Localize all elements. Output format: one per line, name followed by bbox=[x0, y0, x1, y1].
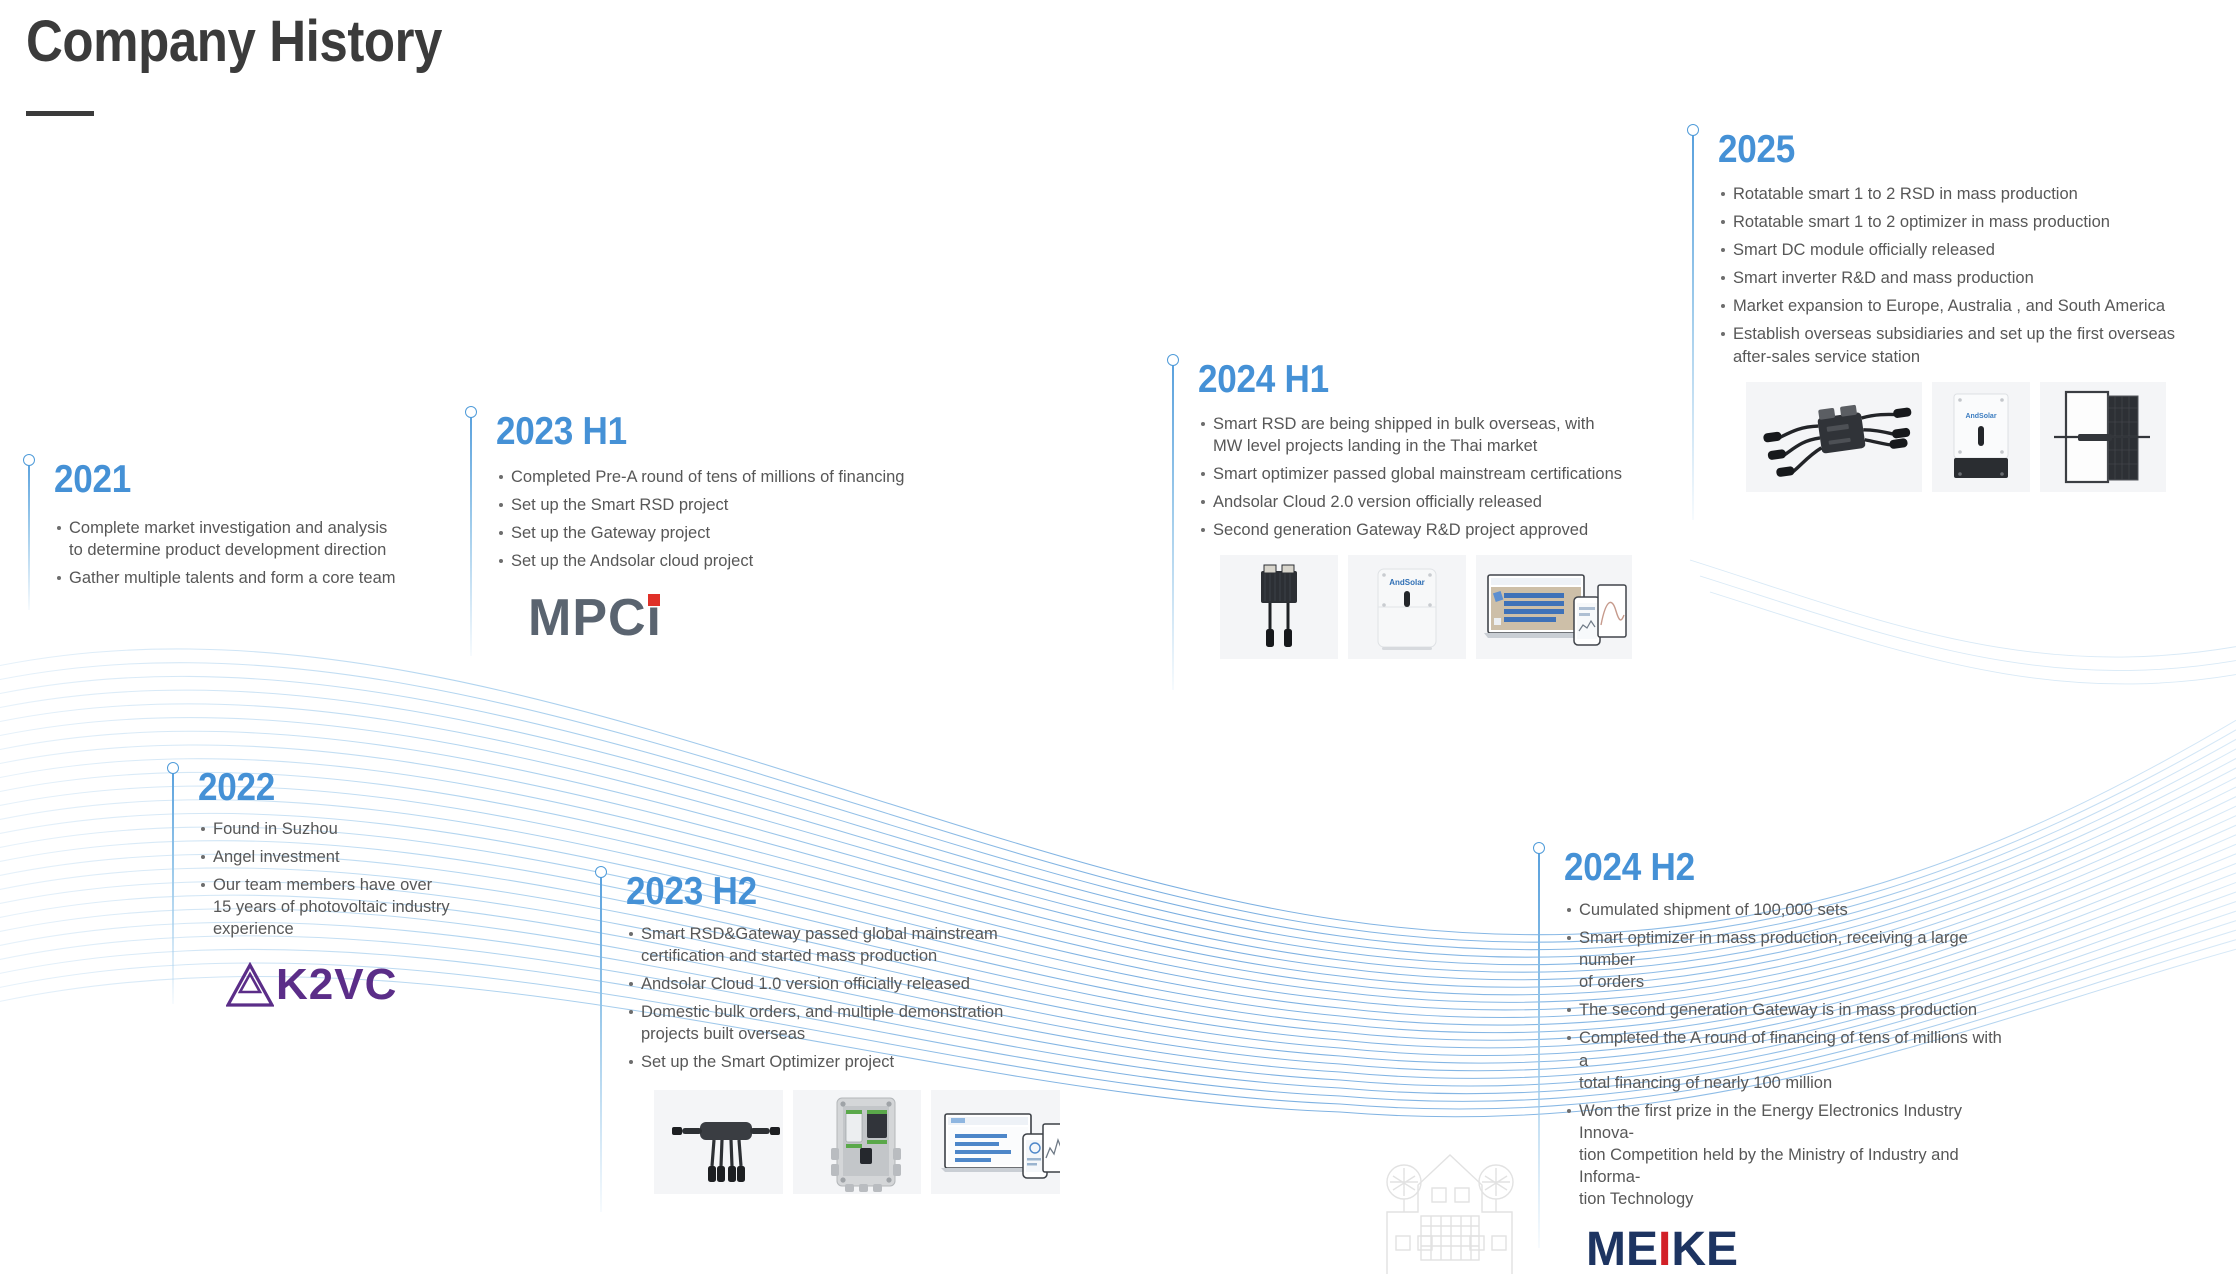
timeline-node-icon bbox=[1167, 354, 1179, 366]
product-photos-2025: AndSolar bbox=[1746, 382, 2192, 492]
year-label-2024h1: 2024 H1 bbox=[1198, 360, 1598, 401]
list-item: Set up the Gateway project bbox=[496, 522, 990, 544]
milestone-2023h1: 2023 H1 Completed Pre-A round of tens of… bbox=[470, 412, 990, 644]
points-list-2025: Rotatable smart 1 to 2 RSD in mass produ… bbox=[1718, 183, 2192, 368]
timeline-axis-2022 bbox=[172, 768, 174, 1004]
smart-rsd-device-photo bbox=[654, 1090, 783, 1194]
year-label-2025: 2025 bbox=[1718, 130, 2145, 171]
timeline-axis-2023h1 bbox=[470, 412, 472, 656]
list-item: Second generation Gateway R&D project ap… bbox=[1198, 519, 1642, 541]
list-item: Smart optimizer in mass production, rece… bbox=[1564, 927, 2008, 993]
timeline-node-icon bbox=[167, 762, 179, 774]
milestone-2022: 2022 Found in Suzhou Angel investment Ou… bbox=[172, 768, 492, 1008]
k2vc-triangle-icon bbox=[226, 962, 274, 1008]
year-label-2024h2: 2024 H2 bbox=[1564, 848, 1964, 889]
mpci-red-dot-icon bbox=[648, 594, 660, 606]
list-item: Establish overseas subsidiaries and set … bbox=[1718, 323, 2192, 367]
list-item: Won the first prize in the Energy Electr… bbox=[1564, 1100, 2008, 1211]
meike-wordmark-part-a: ME bbox=[1586, 1223, 1658, 1274]
milestone-2024h1: 2024 H1 Smart RSD are being shipped in b… bbox=[1172, 360, 1642, 659]
header: Company History bbox=[26, 8, 499, 116]
milestone-2025: 2025 Rotatable smart 1 to 2 RSD in mass … bbox=[1692, 130, 2192, 492]
timeline-node-icon bbox=[1687, 124, 1699, 136]
year-label-2021: 2021 bbox=[54, 460, 391, 501]
list-item: Smart RSD&Gateway passed global mainstre… bbox=[626, 923, 1060, 967]
meike-logo: MEIKE bbox=[1586, 1226, 1738, 1274]
product-photos-2023h2 bbox=[654, 1090, 1060, 1194]
timeline-node-icon bbox=[465, 406, 477, 418]
points-list-2024h2: Cumulated shipment of 100,000 sets Smart… bbox=[1564, 899, 2008, 1210]
list-item: Angel investment bbox=[198, 846, 492, 868]
smart-rsd-module-photo bbox=[1220, 555, 1338, 659]
list-item: Set up the Smart RSD project bbox=[496, 494, 990, 516]
list-item: The second generation Gateway is in mass… bbox=[1564, 999, 2008, 1021]
timeline-axis-2023h2 bbox=[600, 872, 602, 1212]
list-item: Complete market investigation and analys… bbox=[54, 517, 428, 561]
smart-dc-module-panel-photo bbox=[2040, 382, 2166, 492]
company-history-slide: Company History 2021 Complete market inv… bbox=[0, 0, 2236, 1274]
list-item: Domestic bulk orders, and multiple demon… bbox=[626, 1001, 1060, 1045]
list-item: Smart optimizer passed global mainstream… bbox=[1198, 463, 1642, 485]
year-label-2023h2: 2023 H2 bbox=[626, 872, 1017, 913]
timeline-axis-2021 bbox=[28, 460, 30, 610]
list-item: Completed Pre-A round of tens of million… bbox=[496, 466, 990, 488]
andsolar-cloud-2-dashboard-photo bbox=[1476, 555, 1632, 659]
smart-inverter-photo: AndSolar bbox=[1932, 382, 2030, 492]
list-item: Smart RSD are being shipped in bulk over… bbox=[1198, 413, 1642, 457]
year-label-2022: 2022 bbox=[198, 768, 463, 809]
andsolar-gateway-photo: AndSolar bbox=[1348, 555, 1466, 659]
page-title: Company History bbox=[26, 8, 442, 75]
points-list-2023h2: Smart RSD&Gateway passed global mainstre… bbox=[626, 923, 1060, 1074]
timeline-node-icon bbox=[595, 866, 607, 878]
points-list-2022: Found in Suzhou Angel investment Our tea… bbox=[198, 818, 492, 941]
points-list-2023h1: Completed Pre-A round of tens of million… bbox=[496, 466, 990, 572]
svg-text:AndSolar: AndSolar bbox=[1389, 578, 1425, 587]
timeline-node-icon bbox=[1533, 842, 1545, 854]
list-item: Our team members have over 15 years of p… bbox=[198, 874, 492, 940]
list-item: Set up the Andsolar cloud project bbox=[496, 550, 990, 572]
product-photos-2024h1: AndSolar bbox=[1220, 555, 1642, 659]
milestone-2021: 2021 Complete market investigation and a… bbox=[28, 460, 428, 595]
list-item: Andsolar Cloud 2.0 version officially re… bbox=[1198, 491, 1642, 513]
list-item: Gather multiple talents and form a core … bbox=[54, 567, 428, 589]
meike-wordmark-part-b: KE bbox=[1671, 1223, 1738, 1274]
mpci-logo: MPCi bbox=[528, 592, 662, 644]
list-item: Rotatable smart 1 to 2 RSD in mass produ… bbox=[1718, 183, 2192, 205]
year-label-2023h1: 2023 H1 bbox=[496, 412, 941, 453]
list-item: Market expansion to Europe, Australia , … bbox=[1718, 295, 2192, 317]
k2vc-logo: K2VC bbox=[226, 962, 492, 1008]
list-item: Smart inverter R&D and mass production bbox=[1718, 267, 2192, 289]
points-list-2021: Complete market investigation and analys… bbox=[54, 517, 428, 589]
gateway-enclosure-photo bbox=[793, 1090, 922, 1194]
andsolar-cloud-dashboard-photo bbox=[931, 1090, 1060, 1194]
list-item: Rotatable smart 1 to 2 optimizer in mass… bbox=[1718, 211, 2192, 233]
list-item: Found in Suzhou bbox=[198, 818, 492, 840]
svg-text:AndSolar: AndSolar bbox=[1965, 413, 1996, 420]
points-list-2024h1: Smart RSD are being shipped in bulk over… bbox=[1198, 413, 1642, 542]
rotatable-smart-rsd-photo bbox=[1746, 382, 1922, 492]
milestone-2024h2: 2024 H2 Cumulated shipment of 100,000 se… bbox=[1538, 848, 2008, 1274]
timeline-axis-2024h2 bbox=[1538, 848, 1540, 1248]
title-underline-rule bbox=[26, 111, 94, 116]
k2vc-wordmark: K2VC bbox=[276, 963, 397, 1007]
list-item: Andsolar Cloud 1.0 version officially re… bbox=[626, 973, 1060, 995]
mpci-wordmark: MPCi bbox=[528, 589, 662, 647]
milestone-2023h2: 2023 H2 Smart RSD&Gateway passed global … bbox=[600, 872, 1060, 1194]
timeline-axis-2025 bbox=[1692, 130, 1694, 520]
timeline-node-icon bbox=[23, 454, 35, 466]
list-item: Cumulated shipment of 100,000 sets bbox=[1564, 899, 2008, 921]
list-item: Smart DC module officially released bbox=[1718, 239, 2192, 261]
timeline-axis-2024h1 bbox=[1172, 360, 1174, 690]
meike-wordmark-accent-i: I bbox=[1658, 1223, 1671, 1274]
list-item: Completed the A round of financing of te… bbox=[1564, 1027, 2008, 1093]
list-item: Set up the Smart Optimizer project bbox=[626, 1051, 1060, 1073]
